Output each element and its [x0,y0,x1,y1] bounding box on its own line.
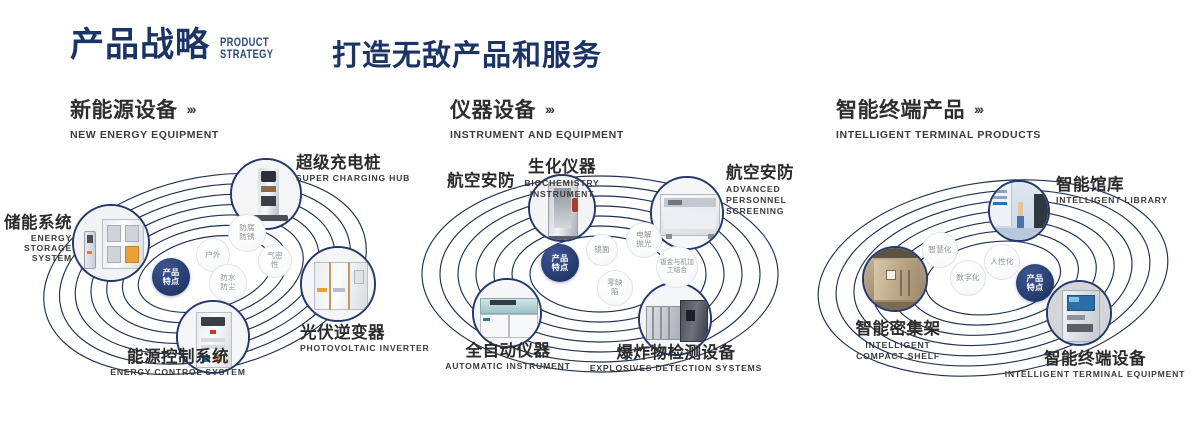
label-biochemistry-instrument: 生化仪器 BIOCHEMISTRY INSTRUMENT [510,158,614,200]
title-english: PRODUCT STRATEGY [220,36,273,60]
label-intelligent-compact-shelf: 智能密集架 INTELLIGENT COMPACT SHELF [798,320,998,362]
feature-label: 户外 [205,251,221,260]
section-title-en-0: NEW ENERGY EQUIPMENT [70,129,219,141]
feature-bubble-electropolishing: 电解抛光 [626,222,662,258]
feature-center-label: 产品特点 [160,268,182,287]
label-energy-control-system: 能源控制系统 ENERGY CONTROL SYSTEM [78,348,278,378]
chevron-triple-icon: ››› [974,101,982,117]
feature-bubble-waterproof: 防水防尘 [209,264,247,302]
label-cn: 全自动仪器 [420,342,596,360]
node-photovoltaic-inverter[interactable] [300,246,376,322]
label-en: INTELLIGENT TERMINAL EQUIPMENT [990,370,1200,380]
feature-bubble-intelligent: 智慧化 [922,232,958,268]
label-cn: 智能馆库 [1056,176,1200,194]
section-title-cn-2: 智能终端产品 ››› [836,94,1041,124]
poster-slogan: 打造无敌产品和服务 [332,32,602,74]
node-intelligent-terminal-equipment[interactable] [1046,280,1112,346]
label-intelligent-terminal-equipment: 智能终端设备 INTELLIGENT TERMINAL EQUIPMENT [990,350,1200,380]
node-energy-storage-system[interactable] [72,204,150,282]
diagram-new-energy: 储能系统 ENERGY STORAGE SYSTEM 超级充电桩 SUPER C… [0,152,400,397]
label-cn: 生化仪器 [510,158,614,176]
feature-bubble-airtight: 气密性 [258,244,292,278]
feature-label: 防腐防锈 [237,224,257,241]
title-english-line2: STRATEGY [220,48,273,60]
feature-label: 防水防尘 [218,274,238,291]
label-explosives-detection-systems: 爆炸物检测设备 EXPLOSIVES DETECTION SYSTEMS [580,344,772,374]
feature-bubble-sheetmetal-machining: 钣金与机加工结合 [656,246,698,288]
label-automatic-instrument: 全自动仪器 AUTOMATIC INSTRUMENT [420,342,596,372]
label-en: BIOCHEMISTRY INSTRUMENT [510,178,614,199]
feature-bubble-anticorrosion: 防腐防锈 [228,214,266,252]
photo-intelligent-terminal-equipment [1048,282,1110,344]
feature-center-bubble: 产品特点 [541,244,579,282]
feature-label: 电解抛光 [634,231,654,248]
photo-intelligent-library [990,182,1048,240]
node-intelligent-compact-shelf[interactable] [862,246,928,312]
label-cn: 爆炸物检测设备 [580,344,772,362]
section-title-en-1: INSTRUMENT AND EQUIPMENT [450,129,624,141]
feature-center-bubble: 产品特点 [152,258,190,296]
feature-label: 零缺陷 [604,279,626,296]
section-title-cn-1: 仪器设备 ››› [450,94,624,124]
feature-label: 数字化 [956,274,979,283]
label-en: EXPLOSIVES DETECTION SYSTEMS [580,364,772,374]
feature-bubble-zero-defect: 零缺陷 [597,270,633,306]
label-cn: 智能密集架 [798,320,998,338]
chevron-triple-icon: ››› [545,101,553,117]
label-cn: 航空安防 [395,172,515,190]
section-header-new-energy: 新能源设备 ››› NEW ENERGY EQUIPMENT [70,94,219,141]
section-title-en-2: INTELLIGENT TERMINAL PRODUCTS [836,129,1041,141]
feature-label: 镜面 [594,246,610,255]
diagram-instrument: 生化仪器 BIOCHEMISTRY INSTRUMENT 航空安防 航空安防 A… [400,152,800,397]
section-title-cn-text-1: 仪器设备 [450,94,536,124]
label-aviation-security-extra: 航空安防 [395,172,515,190]
feature-label: 钣金与机加工结合 [660,259,694,274]
section-header-instrument: 仪器设备 ››› INSTRUMENT AND EQUIPMENT [450,94,624,141]
feature-bubble-digital: 数字化 [950,260,986,296]
label-cn: 智能终端设备 [990,350,1200,368]
feature-bubble-humanized: 人性化 [984,244,1020,280]
photo-energy-storage-system [74,206,148,280]
label-intelligent-library: 智能馆库 INTELLIGENT LIBRARY [1056,176,1200,206]
feature-label: 气密性 [265,252,285,269]
section-header-intelligent: 智能终端产品 ››› INTELLIGENT TERMINAL PRODUCTS [836,94,1041,141]
chevron-triple-icon: ››› [187,101,195,117]
node-intelligent-library[interactable] [988,180,1050,242]
label-en: INTELLIGENT COMPACT SHELF [850,340,946,361]
section-title-cn-text-2: 智能终端产品 [836,94,965,124]
title-chinese: 产品战略 [70,28,210,62]
photo-automatic-instrument [474,280,540,346]
poster-root: 产品战略 PRODUCT STRATEGY 打造无敌产品和服务 新能源设备 ››… [0,0,1200,422]
node-automatic-instrument[interactable] [472,278,542,348]
label-energy-storage-system: 储能系统 ENERGY STORAGE SYSTEM [0,214,72,263]
label-cn: 储能系统 [0,214,72,232]
feature-center-label: 产品特点 [1024,274,1046,293]
poster-title: 产品战略 PRODUCT STRATEGY [70,28,288,62]
label-en: ENERGY CONTROL SYSTEM [78,368,278,378]
section-title-cn-text-0: 新能源设备 [70,94,178,124]
feature-label: 人性化 [990,258,1013,267]
diagram-intelligent-terminal: 智能馆库 INTELLIGENT LIBRARY 智能终端设备 INTELLIG… [790,152,1200,397]
section-title-cn-0: 新能源设备 ››› [70,94,219,124]
feature-center-label: 产品特点 [549,254,571,273]
label-cn: 能源控制系统 [78,348,278,366]
photo-advanced-personnel-screening [652,178,722,248]
label-en: INTELLIGENT LIBRARY [1056,196,1200,206]
photo-photovoltaic-inverter [302,248,374,320]
feature-label: 智慧化 [928,246,951,255]
label-en: AUTOMATIC INSTRUMENT [420,362,596,372]
feature-center-bubble: 产品特点 [1016,264,1054,302]
label-en: ENERGY STORAGE SYSTEM [0,234,72,263]
photo-intelligent-compact-shelf [864,248,926,310]
feature-bubble-mirror: 镜面 [586,234,618,266]
